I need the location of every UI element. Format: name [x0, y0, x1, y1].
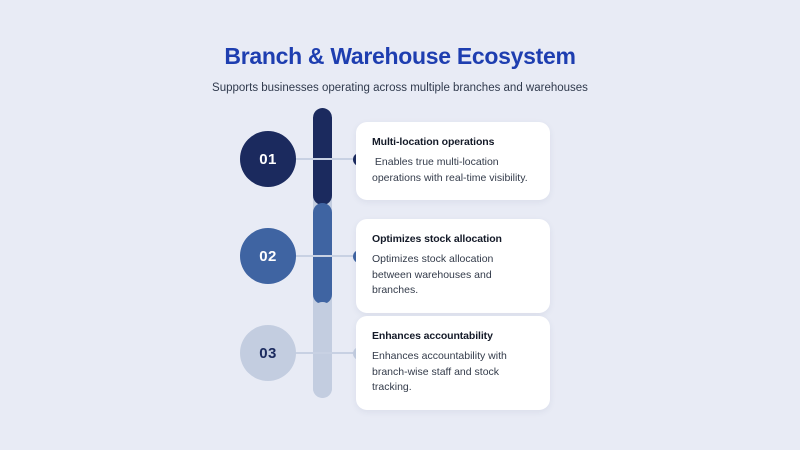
timeline-bar-segment-1	[313, 108, 332, 205]
step-card-body: Optimizes stock allocation between wareh…	[372, 252, 534, 299]
timeline-bar-segment-3	[313, 302, 332, 398]
connector-line	[290, 158, 362, 160]
step-badge-03[interactable]: 03	[240, 325, 296, 381]
page-title: Branch & Warehouse Ecosystem	[0, 42, 800, 70]
connector-line	[290, 255, 362, 257]
step-card-01[interactable]: Multi-location operations Enables true m…	[356, 122, 550, 200]
step-badge-02[interactable]: 02	[240, 228, 296, 284]
step-card-title: Enhances accountability	[372, 329, 534, 343]
infographic-canvas: Branch & Warehouse Ecosystem Supports bu…	[0, 0, 800, 450]
step-badge-01[interactable]: 01	[240, 131, 296, 187]
timeline-bar-segment-2	[313, 203, 332, 304]
page-subtitle: Supports businesses operating across mul…	[0, 80, 800, 96]
step-card-03[interactable]: Enhances accountability Enhances account…	[356, 316, 550, 410]
step-card-body: Enables true multi-location operations w…	[372, 155, 534, 186]
step-number: 03	[259, 345, 277, 362]
step-card-title: Optimizes stock allocation	[372, 232, 534, 246]
step-number: 01	[259, 151, 277, 168]
step-card-title: Multi-location operations	[372, 135, 534, 149]
header: Branch & Warehouse Ecosystem Supports bu…	[0, 42, 800, 96]
step-card-body: Enhances accountability with branch-wise…	[372, 349, 534, 396]
step-number: 02	[259, 248, 277, 265]
step-card-02[interactable]: Optimizes stock allocation Optimizes sto…	[356, 219, 550, 313]
connector-line	[290, 352, 362, 354]
timeline-bar	[313, 108, 332, 398]
